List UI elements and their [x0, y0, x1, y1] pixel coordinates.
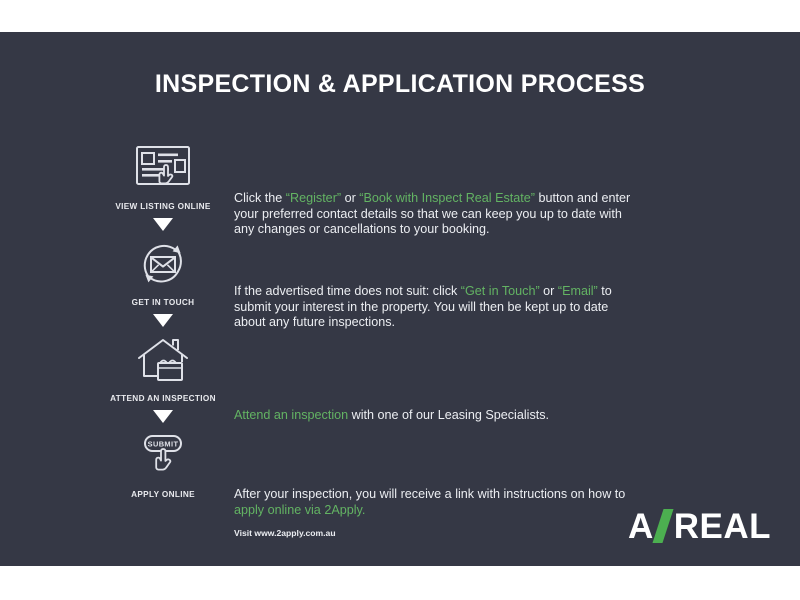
step-label: GET IN TOUCH — [88, 298, 238, 307]
down-triangle-icon — [153, 218, 173, 231]
house-briefcase-icon — [88, 332, 238, 388]
connector-arrow-1 — [88, 218, 238, 231]
brand-logo: A REAL — [628, 506, 771, 546]
step-label: APPLY ONLINE — [88, 490, 238, 499]
step-description-3: Attend an inspection with one of our Lea… — [234, 408, 634, 424]
step-view-listing-online[interactable]: VIEW LISTING ONLINE — [88, 140, 238, 211]
submit-button-cursor-icon: SUBMIT — [88, 428, 238, 484]
logo-letter-a: A — [628, 509, 654, 544]
connector-arrow-3 — [88, 410, 238, 423]
step-description-2: If the advertised time does not suit: cl… — [234, 284, 634, 331]
step-label: VIEW LISTING ONLINE — [88, 202, 238, 211]
step-description-1: Click the “Register” or “Book with Inspe… — [234, 191, 634, 238]
poster-canvas: INSPECTION & APPLICATION PROCESS — [0, 0, 800, 600]
logo-word-real: REAL — [674, 509, 771, 544]
step-description-4: After your inspection, you will receive … — [234, 487, 634, 518]
envelope-refresh-icon — [88, 236, 238, 292]
steps-column: VIEW LISTING ONLINE — [88, 140, 238, 499]
logo-slash-icon — [652, 509, 673, 543]
dark-panel: INSPECTION & APPLICATION PROCESS — [0, 32, 800, 566]
connector-arrow-2 — [88, 314, 238, 327]
step-label: ATTEND AN INSPECTION — [88, 394, 238, 403]
listing-cursor-icon — [88, 140, 238, 196]
down-triangle-icon — [153, 314, 173, 327]
step-get-in-touch[interactable]: GET IN TOUCH — [88, 236, 238, 307]
submit-label: SUBMIT — [148, 439, 179, 448]
visit-url-note: Visit www.2apply.com.au — [234, 528, 534, 538]
down-triangle-icon — [153, 410, 173, 423]
step-attend-an-inspection[interactable]: ATTEND AN INSPECTION — [88, 332, 238, 403]
page-title: INSPECTION & APPLICATION PROCESS — [0, 70, 800, 99]
step-apply-online[interactable]: SUBMIT APPLY ONLINE — [88, 428, 238, 499]
